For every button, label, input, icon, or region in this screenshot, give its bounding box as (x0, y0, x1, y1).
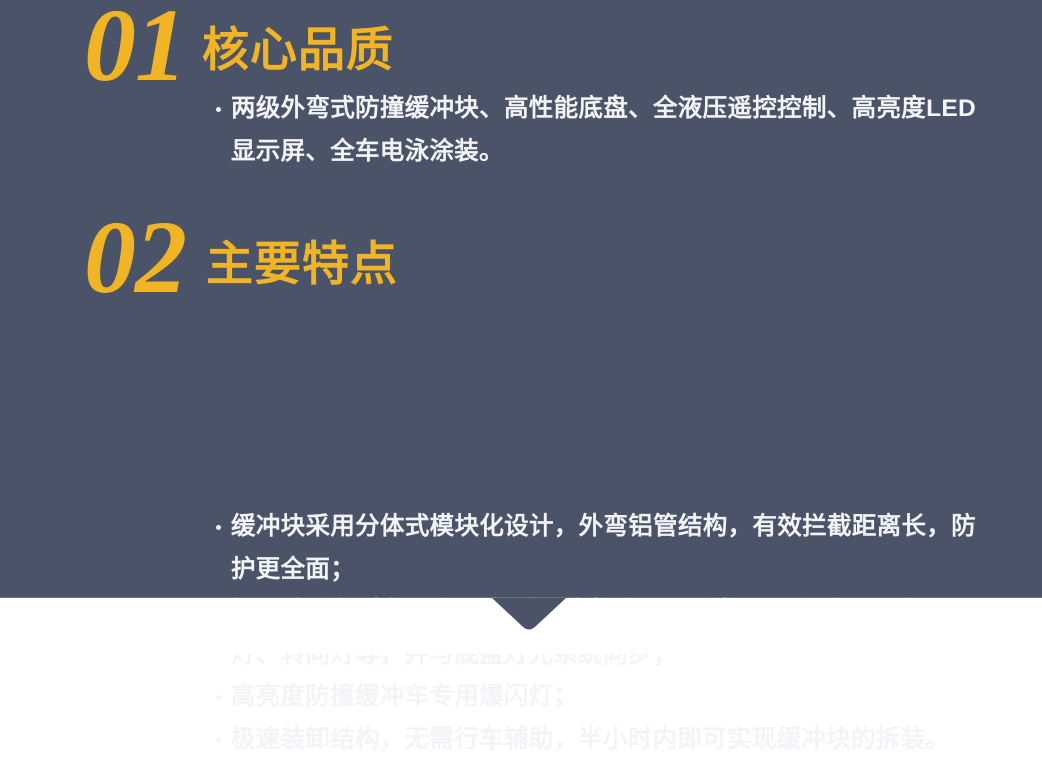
chevron-down-icon (492, 598, 566, 632)
list-item: 两级外弯式防撞缓冲块、高性能底盘、全液压遥控控制、高亮度LED显示屏、全车电泳涂… (214, 88, 976, 173)
section-01: 01 核心品质 两级外弯式防撞缓冲块、高性能底盘、全液压遥控控制、高亮度LED显… (0, 0, 1042, 92)
section-01-bullet-list: 两级外弯式防撞缓冲块、高性能底盘、全液压遥控控制、高亮度LED显示屏、全车电泳涂… (214, 88, 976, 173)
list-item: 高亮度防撞缓冲车专用爆闪灯； (214, 676, 976, 719)
section-02-heading: 02 主要特点 (0, 212, 1042, 304)
section-02: 02 主要特点 缓冲块采用分体式模块化设计，外弯铝管结构，有效拦截距离长，防护更… (0, 212, 1042, 304)
section-01-number: 01 (84, 0, 186, 92)
list-item: 极速装卸结构，无需行车辅助，半小时内即可实现缓冲块的拆装。 (214, 719, 976, 761)
section-02-title: 主要特点 (206, 236, 398, 292)
section-01-heading: 01 核心品质 (0, 0, 1042, 92)
dark-content-panel: 01 核心品质 两级外弯式防撞缓冲块、高性能底盘、全液压遥控控制、高亮度LED显… (0, 0, 1042, 598)
section-02-number: 02 (84, 212, 186, 304)
section-01-title: 核心品质 (202, 22, 394, 78)
poster-root: 01 核心品质 两级外弯式防撞缓冲块、高性能底盘、全液压遥控控制、高亮度LED显… (0, 0, 1042, 654)
list-item: 缓冲块采用分体式模块化设计，外弯铝管结构，有效拦截距离长，防护更全面； (214, 506, 976, 591)
